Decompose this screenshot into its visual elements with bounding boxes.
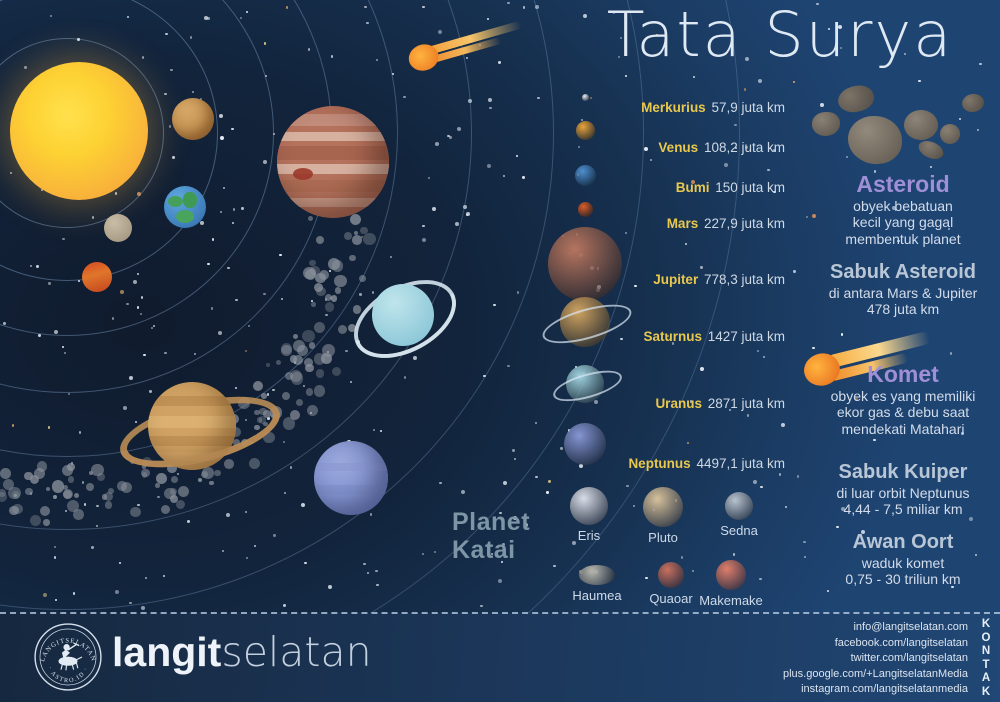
info-block-title: Sabuk Asteroid [806, 262, 1000, 283]
contact-line[interactable]: info@langitselatan.com [783, 620, 968, 636]
contact-list: info@langitselatan.comfacebook.com/langi… [783, 620, 968, 698]
infographic-poster: Tata Surya Merkurius 57,9 juta kmVenus 1… [0, 0, 1000, 702]
contact-line[interactable]: twitter.com/langitselatan [783, 651, 968, 667]
info-block-title: Asteroid [806, 172, 1000, 196]
info-block-body: obyek es yang memilikiekor gas & debu sa… [806, 388, 1000, 437]
footer-divider [0, 612, 1000, 614]
info-block-line: membentuk planet [806, 231, 1000, 247]
info-block-line: kecil yang gagal [806, 214, 1000, 230]
info-block-sabuk-kuiper: Sabuk Kuiperdi luar orbit Neptunus4,44 -… [806, 462, 1000, 517]
info-block-asteroid: Asteroidobyek bebatuankecil yang gagalme… [806, 172, 1000, 247]
info-block-komet: Kometobyek es yang memilikiekor gas & de… [806, 362, 1000, 437]
info-block-line: ekor gas & debu saat [806, 404, 1000, 420]
kontak-letter: K [978, 686, 994, 700]
info-block-line: obyek bebatuan [806, 198, 1000, 214]
info-block-line: mendekati Matahari [806, 421, 1000, 437]
info-block-line: 478 juta km [806, 301, 1000, 317]
kontak-letter: A [978, 672, 994, 686]
info-block-line: obyek es yang memiliki [806, 388, 1000, 404]
info-block-line: di antara Mars & Jupiter [806, 285, 1000, 301]
contact-line[interactable]: instagram.com/langitselatanmedia [783, 682, 968, 698]
brand-light: selatan [221, 628, 371, 676]
contact-line[interactable]: facebook.com/langitselatan [783, 636, 968, 652]
info-block-body: di luar orbit Neptunus4,44 - 7,5 miliar … [806, 485, 1000, 517]
svg-text:· ASTRO.ID ·: · ASTRO.ID · [46, 666, 90, 685]
info-block-body: di antara Mars & Jupiter478 juta km [806, 285, 1000, 317]
right-info-column: Asteroidobyek bebatuankecil yang gagalme… [0, 0, 1000, 702]
brand-bold: langit [112, 629, 221, 675]
kontak-letter: O [978, 632, 994, 646]
info-block-awan-oort: Awan Oortwaduk komet0,75 - 30 triliun km [806, 532, 1000, 587]
info-block-line: waduk komet [806, 555, 1000, 571]
info-block-title: Awan Oort [806, 532, 1000, 553]
langitselatan-logo-icon: LANGITSELATAN · ASTRO.ID · [33, 622, 103, 692]
contact-line[interactable]: plus.google.com/+LangitselatanMedia [783, 667, 968, 683]
info-block-body: obyek bebatuankecil yang gagalmembentuk … [806, 198, 1000, 247]
info-block-body: waduk komet0,75 - 30 triliun km [806, 555, 1000, 587]
kontak-letter: K [978, 618, 994, 632]
kontak-letter: T [978, 659, 994, 673]
kontak-letter: N [978, 645, 994, 659]
info-block-line: 4,44 - 7,5 miliar km [806, 501, 1000, 517]
info-block-title: Sabuk Kuiper [806, 462, 1000, 483]
info-block-title: Komet [806, 362, 1000, 386]
brand-wordmark: langitselatan [112, 632, 372, 673]
info-block-line: 0,75 - 30 triliun km [806, 571, 1000, 587]
kontak-label: KONTAK [978, 618, 994, 699]
info-block-sabuk-asteroid: Sabuk Asteroiddi antara Mars & Jupiter47… [806, 262, 1000, 317]
info-block-line: di luar orbit Neptunus [806, 485, 1000, 501]
